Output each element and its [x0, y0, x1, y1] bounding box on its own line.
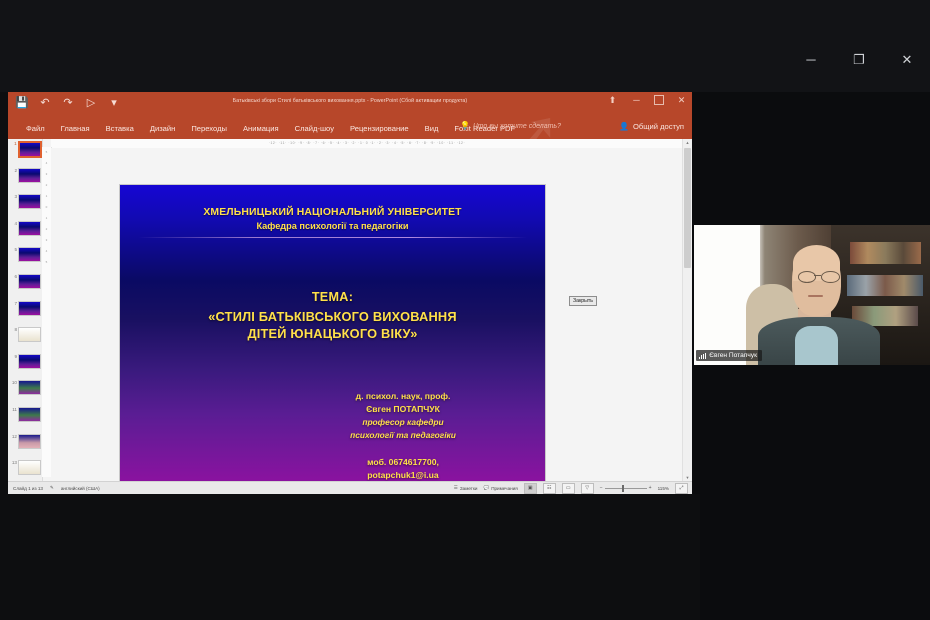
desktop-top-bar: ─ ❐ ✕ [0, 0, 930, 92]
language-indicator[interactable]: английский (США) [61, 486, 100, 491]
ruler-tick: 2 [42, 224, 51, 235]
slide-number: 10 [8, 379, 18, 385]
slide-university-name: ХМЕЛЬНИЦЬКИЙ НАЦІОНАЛЬНИЙ УНІВЕРСИТЕТ [120, 207, 545, 218]
notes-button[interactable]: ☰ Заметки [454, 485, 478, 491]
slide-thumbnail-image [18, 221, 41, 236]
slide-vertical-scrollbar[interactable]: ▲ ▼ [682, 139, 692, 482]
current-slide[interactable]: ХМЕЛЬНИЦЬКИЙ НАЦІОНАЛЬНИЙ УНІВЕРСИТЕТ Ка… [120, 185, 545, 494]
document-title: Батьківські збори Стилі батьківського ви… [8, 98, 692, 104]
slide-thumbnail[interactable]: 7 [8, 299, 42, 326]
slide-author-name: Євген ПОТАПЧУК [283, 404, 523, 414]
ruler-tick: 1 [42, 213, 51, 224]
video-books-row [847, 275, 923, 296]
comments-label: Примечания [491, 486, 518, 491]
zoom-knob[interactable] [622, 485, 624, 492]
slide-thumbnail[interactable]: 13 [8, 458, 42, 482]
slide-thumbnail-image [18, 434, 41, 449]
slide-thumbnail[interactable]: 5 [8, 245, 42, 272]
status-left-group: Слайд 1 из 13 ✎ английский (США) [8, 485, 100, 491]
slide-thumbnail-image [18, 301, 41, 316]
video-person-glasses-bridge [814, 275, 821, 276]
slide-number: 9 [8, 353, 18, 359]
zoom-slider[interactable]: − + [600, 485, 652, 491]
comments-button[interactable]: 💬 Примечания [483, 485, 517, 491]
ruler-tick: 4 [42, 246, 51, 257]
ruler-tick: 3 [42, 235, 51, 246]
slide-sorter-view-button[interactable]: ☷ [543, 483, 556, 494]
slide-thumbnail-image [18, 354, 41, 369]
slide-thumbnail-image [18, 380, 41, 395]
video-person-shirt [795, 326, 837, 365]
slide-contact-phone: моб. 0674617700, [283, 457, 523, 467]
powerpoint-window: 💾 ↶ ↷ ▷ ▾ Батьківські збори Стилі батькі… [8, 92, 692, 494]
zoom-in-icon[interactable]: + [649, 485, 652, 491]
ribbon-tab-bar: ➚ Файл Главная Вставка Дизайн Переходы А… [8, 117, 692, 139]
notes-label: Заметки [460, 486, 478, 491]
tab-transitions[interactable]: Переходы [183, 124, 235, 133]
powerpoint-title-bar: 💾 ↶ ↷ ▷ ▾ Батьківські збори Стилі батькі… [8, 92, 692, 117]
slide-number: 2 [8, 167, 18, 173]
scroll-up-icon[interactable]: ▲ [683, 139, 692, 147]
person-icon: 👤 [619, 123, 629, 131]
desktop-window-controls: ─ ❐ ✕ [796, 46, 922, 72]
slide-department-name: Кафедра психології та педагогіки [120, 221, 545, 231]
ruler-tick: 3 [42, 169, 51, 180]
tab-review[interactable]: Рецензирование [342, 124, 417, 133]
slide-number: 7 [8, 300, 18, 306]
desktop-close-icon[interactable]: ✕ [892, 46, 922, 72]
ruler-tick: 5 [42, 147, 51, 158]
video-person-mouth [808, 295, 822, 297]
slide-number: 13 [8, 459, 18, 465]
zoom-track[interactable] [605, 488, 647, 489]
ruler-tick: 2 [42, 180, 51, 191]
slide-thumbnail[interactable]: 1 [8, 139, 42, 166]
slide-thumbnail[interactable]: 8 [8, 325, 42, 352]
ruler-tick: 5 [42, 257, 51, 268]
slide-author-degree: д. психол. наук, проф. [283, 391, 523, 401]
tab-file[interactable]: Файл [18, 124, 53, 133]
status-right-group: ☰ Заметки 💬 Примечания ▣ ☷ ▭ ▽ − + 115% … [454, 483, 692, 494]
share-button[interactable]: 👤 Общий доступ [619, 122, 684, 131]
slide-thumbnail-image [18, 407, 41, 422]
participant-video-tile[interactable]: Євген Потапчук [694, 225, 930, 365]
comment-bubble-icon: 💬 [483, 485, 489, 491]
zoom-level-label[interactable]: 115% [658, 486, 669, 491]
slide-author-role-line1: професор кафедри [283, 417, 523, 427]
slideshow-view-button[interactable]: ▽ [581, 483, 594, 494]
ruler-tick: 1 [42, 191, 51, 202]
slide-thumbnail-image [18, 141, 42, 158]
ribbon-tabs: Файл Главная Вставка Дизайн Переходы Ани… [18, 117, 523, 139]
normal-view-button[interactable]: ▣ [524, 483, 537, 494]
powerpoint-minimize-icon[interactable]: ─ [630, 96, 643, 105]
slide-contact-email: potapchuk1@i.ua [283, 470, 523, 480]
screen-root: ─ ❐ ✕ 💾 ↶ ↷ ▷ ▾ Батьківські збори Стилі … [0, 0, 930, 620]
slide-thumbnail[interactable]: 9 [8, 352, 42, 379]
slide-thumbnail[interactable]: 2 [8, 166, 42, 193]
slide-number: 8 [8, 326, 18, 332]
slide-thumbnail-image [18, 247, 41, 262]
slide-thumbnail[interactable]: 6 [8, 272, 42, 299]
ruler-tick: 4 [42, 158, 51, 169]
tab-slideshow[interactable]: Слайд-шоу [287, 124, 342, 133]
slide-number: 4 [8, 220, 18, 226]
ribbon-display-options-icon[interactable]: ⬆ [606, 96, 619, 105]
slide-thumbnail-image [18, 274, 41, 289]
spellcheck-icon[interactable]: ✎ [50, 485, 54, 491]
slide-theme-line1: «СТИЛІ БАТЬКІВСЬКОГО ВИХОВАННЯ [120, 309, 545, 324]
slide-thumbnail-pane[interactable]: 1 2 3 4 5 [8, 139, 43, 482]
tell-me-placeholder: Что вы хотите сделать? [473, 123, 561, 130]
tab-design[interactable]: Дизайн [142, 124, 184, 133]
tab-animations[interactable]: Анимация [235, 124, 287, 133]
lightbulb-icon: 💡 [460, 122, 470, 130]
powerpoint-status-bar: Слайд 1 из 13 ✎ английский (США) ☰ Замет… [8, 481, 692, 494]
slide-thumbnail[interactable]: 3 [8, 192, 42, 219]
fit-to-window-button[interactable]: ⤢ [675, 483, 688, 494]
powerpoint-body: 1 2 3 4 5 [8, 139, 692, 482]
slide-divider [138, 237, 527, 238]
slide-thumbnail-image [18, 194, 41, 209]
ruler-tick: 0 [42, 202, 51, 213]
slide-number: 6 [8, 273, 18, 279]
slide-thumbnail-image [18, 327, 41, 342]
video-books-row [850, 242, 921, 264]
close-presentation-button[interactable]: Закрыть [569, 296, 597, 306]
slide-thumbnail[interactable]: 4 [8, 219, 42, 246]
slide-number: 3 [8, 193, 18, 199]
share-label: Общий доступ [633, 122, 684, 131]
slide-thumbnail-image [18, 168, 41, 183]
tab-insert[interactable]: Вставка [98, 124, 142, 133]
tell-me-search[interactable]: 💡 Что вы хотите сделать? [460, 122, 561, 130]
slide-thumbnail[interactable]: 12 [8, 432, 42, 459]
desktop-restore-icon[interactable]: ❐ [844, 46, 874, 72]
video-person-glasses-right [821, 271, 840, 283]
slide-thumbnail[interactable]: 10 [8, 378, 42, 405]
slide-thumbnail-image [18, 460, 41, 475]
zoom-out-icon[interactable]: − [600, 485, 603, 491]
participant-name-label: Євген Потапчук [709, 352, 757, 359]
participant-name-badge: Євген Потапчук [696, 350, 762, 361]
reading-view-button[interactable]: ▭ [562, 483, 575, 494]
slide-counter[interactable]: Слайд 1 из 13 [13, 486, 43, 491]
slide-author-role-line2: психології та педагогіки [283, 430, 523, 440]
slide-number: 12 [8, 433, 18, 439]
desktop-left-edge [0, 92, 8, 522]
powerpoint-restore-icon[interactable] [654, 95, 664, 105]
slide-theme-line2: ДІТЕЙ ЮНАЦЬКОГО ВІКУ» [120, 326, 545, 341]
powerpoint-close-icon[interactable]: ✕ [675, 96, 688, 105]
scrollbar-thumb[interactable] [684, 148, 691, 268]
slide-number: 5 [8, 246, 18, 252]
slide-theme-label: ТЕМА: [120, 290, 545, 304]
tab-home[interactable]: Главная [53, 124, 98, 133]
desktop-bottom-edge [0, 494, 700, 620]
desktop-minimize-icon[interactable]: ─ [796, 46, 826, 72]
slide-thumbnail[interactable]: 11 [8, 405, 42, 432]
slide-number: 11 [8, 406, 18, 412]
powerpoint-window-controls: ⬆ ─ ✕ [606, 95, 688, 105]
slide-number: 1 [8, 140, 18, 146]
signal-bars-icon [699, 353, 706, 359]
tab-view[interactable]: Вид [417, 124, 447, 133]
notes-icon: ☰ [454, 485, 458, 491]
